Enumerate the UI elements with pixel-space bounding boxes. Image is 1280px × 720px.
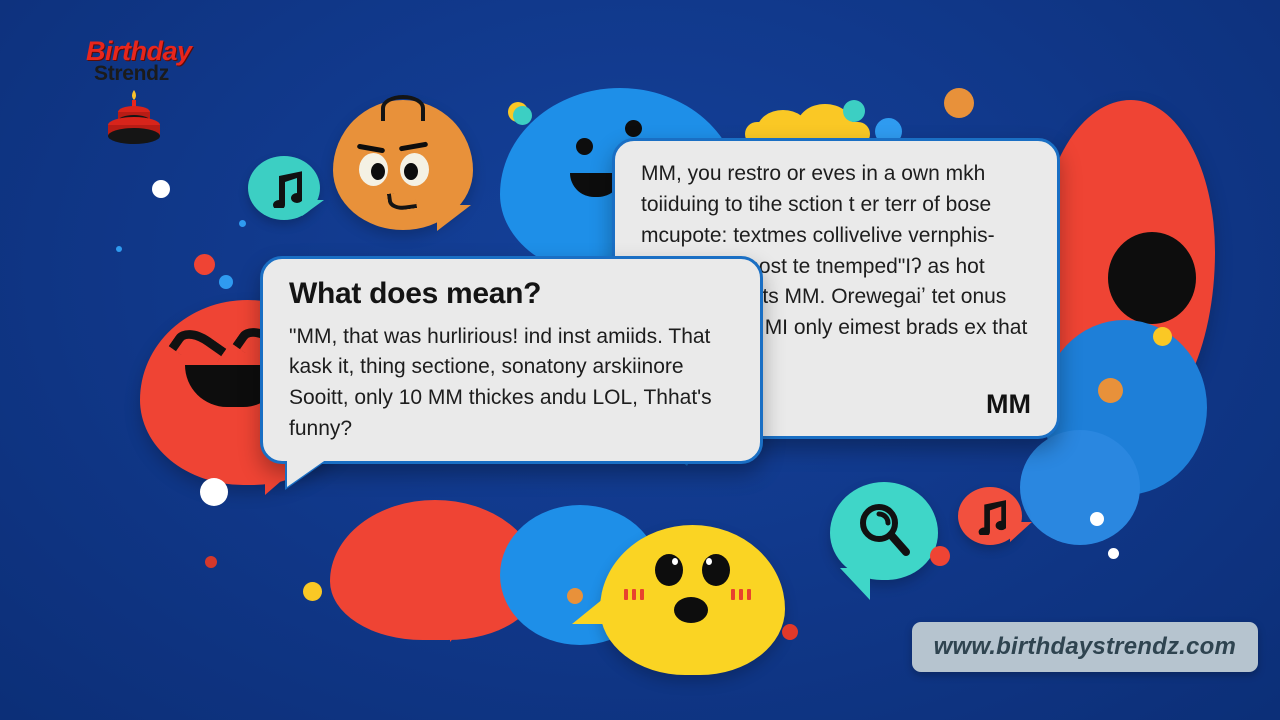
music-note-icon (266, 168, 302, 208)
music-note-icon-red-bubble (972, 497, 1006, 535)
surprised-eye-glint-right (706, 558, 712, 565)
chat-bubble-left-tail (287, 459, 327, 487)
orange-pupil-right (404, 163, 418, 180)
decor-dot-white-1 (152, 180, 170, 198)
chat-bubble-left-heading: What does mean? (289, 277, 734, 312)
decor-dot-orange-2 (1098, 378, 1123, 403)
decor-dot-yellow-2 (1153, 327, 1172, 346)
surprised-mouth (674, 597, 708, 623)
decor-blob-red-bottom-tail (450, 600, 486, 642)
blush-right-3 (747, 589, 751, 600)
decor-dot-white-2 (200, 478, 228, 506)
decor-dot-blue-2 (239, 220, 246, 227)
logo-text-strendz: Strendz (94, 62, 169, 86)
poster-canvas: Birthday Strendz MM, you restro or eves … (0, 0, 1280, 720)
decor-dot-yellow-3 (303, 582, 322, 601)
teal-search-bubble-tail (840, 568, 870, 600)
blush-right-1 (731, 589, 735, 600)
smiley-eye-right (625, 120, 642, 137)
orange-pupil-left (371, 163, 385, 180)
red-music-bubble-tail (1010, 522, 1032, 542)
decor-dot-orange-1 (944, 88, 974, 118)
decor-dot-teal-2 (843, 100, 865, 122)
surprised-eye-left (655, 554, 683, 586)
orange-hair-tuft (381, 95, 425, 121)
decor-blob-blue-right-2 (1020, 430, 1140, 545)
decor-dot-blue-5 (116, 246, 122, 252)
decor-dot-red-4 (205, 556, 217, 568)
chat-bubble-left[interactable]: What does mean? "MM, that was hurlirious… (260, 256, 763, 464)
decor-dot-red-3 (782, 624, 798, 640)
teal-music-bubble-tail (302, 200, 324, 216)
blush-right-2 (739, 589, 743, 600)
decor-dot-teal-1 (513, 106, 532, 125)
smiley-eye-left (576, 138, 593, 155)
chat-bubble-left-text: "MM, that was hurlirious! ind inst amiid… (289, 322, 734, 445)
decor-dot-white-3 (1090, 512, 1104, 526)
website-url-badge[interactable]: www.birthdaystrendz.com (912, 622, 1258, 672)
site-logo[interactable]: Birthday Strendz (72, 36, 202, 146)
decor-dot-orange-3 (567, 588, 583, 604)
decor-dot-white-4 (1108, 548, 1119, 559)
birthday-cake-icon (96, 86, 176, 146)
decor-dot-red-2 (930, 546, 950, 566)
decor-dot-red-1 (194, 254, 215, 275)
blush-left-2 (632, 589, 636, 600)
blush-left-3 (640, 589, 644, 600)
orange-bubble-tail (437, 205, 471, 231)
magnifier-icon (856, 500, 912, 558)
decor-dot-blue-1 (219, 275, 233, 289)
surprised-eye-glint-left (672, 558, 678, 565)
blush-left-1 (624, 589, 628, 600)
red-bubble-eye-icon (1108, 232, 1196, 324)
